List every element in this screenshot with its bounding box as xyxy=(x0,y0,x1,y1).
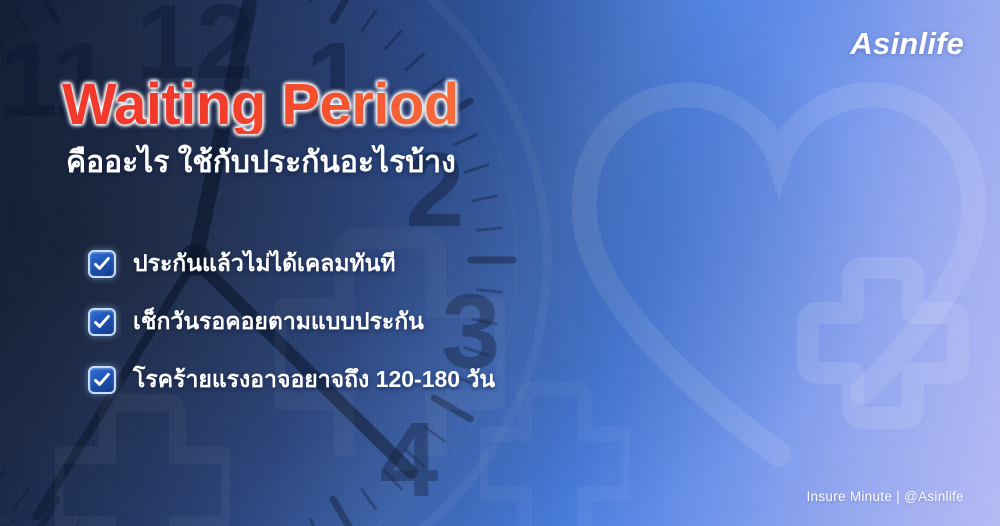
brand-logo: Asinlife xyxy=(850,26,964,62)
page-subtitle: คืออะไร ใช้กับประกันอะไรบ้าง xyxy=(66,146,702,181)
footer-credit: Insure Minute | @Asinlife xyxy=(806,489,964,504)
checkbox-checked-icon xyxy=(88,308,116,336)
headline-block: Waiting Period คืออะไร ใช้กับประกันอะไรบ… xyxy=(62,76,702,181)
list-item: โรคร้ายแรงอาจอยาจถึง 120-180 วัน xyxy=(88,362,495,398)
checkbox-checked-icon xyxy=(88,250,116,278)
benefits-checklist: ประกันแล้วไม่ได้เคลมทันที เช็กวันรอคอยตา… xyxy=(88,246,495,398)
page-title: Waiting Period xyxy=(62,76,702,134)
checkbox-checked-icon xyxy=(88,366,116,394)
infographic-canvas: 12 11 1 2 3 4 Asinlife Waiting Period คื… xyxy=(0,0,1000,526)
svg-text:4: 4 xyxy=(380,401,439,519)
list-item-label: ประกันแล้วไม่ได้เคลมทันที xyxy=(133,246,396,282)
medical-cross-watermark xyxy=(55,392,230,526)
medical-cross-watermark xyxy=(480,380,630,526)
list-item-label: โรคร้ายแรงอาจอยาจถึง 120-180 วัน xyxy=(133,362,495,398)
list-item: ประกันแล้วไม่ได้เคลมทันที xyxy=(88,246,495,282)
list-item-label: เช็กวันรอคอยตามแบบประกัน xyxy=(133,304,424,340)
list-item: เช็กวันรอคอยตามแบบประกัน xyxy=(88,304,495,340)
